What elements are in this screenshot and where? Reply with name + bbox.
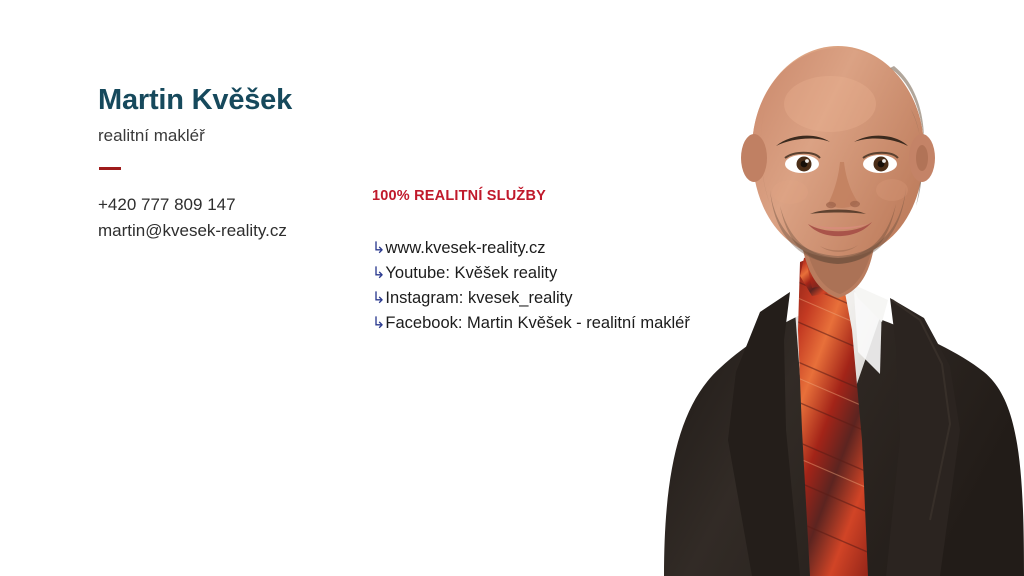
identity-block: Martin Kvěšek realitní makléř +420 777 8… bbox=[98, 84, 368, 245]
job-title: realitní makléř bbox=[98, 126, 368, 146]
list-item[interactable]: ↳ Instagram: kvesek_reality bbox=[372, 286, 752, 311]
divider-rule bbox=[99, 167, 121, 170]
page-title: Martin Kvěšek bbox=[98, 84, 368, 116]
list-item[interactable]: ↳ Youtube: Kvěšek reality bbox=[372, 261, 752, 286]
arrow-down-right-icon: ↳ bbox=[372, 241, 385, 257]
link-website[interactable]: www.kvesek-reality.cz bbox=[385, 236, 545, 261]
arrow-down-right-icon: ↳ bbox=[372, 266, 385, 282]
services-block: 100% REALITNÍ SLUŽBY ↳ www.kvesek-realit… bbox=[372, 188, 752, 336]
email-address[interactable]: martin@kvesek-reality.cz bbox=[98, 218, 368, 244]
services-heading: 100% REALITNÍ SLUŽBY bbox=[372, 188, 752, 204]
link-facebook[interactable]: Facebook: Martin Kvěšek - realitní maklé… bbox=[385, 311, 689, 336]
list-item[interactable]: ↳ www.kvesek-reality.cz bbox=[372, 236, 752, 261]
arrow-down-right-icon: ↳ bbox=[372, 291, 385, 307]
social-links-list: ↳ www.kvesek-reality.cz ↳ Youtube: Kvěše… bbox=[372, 236, 752, 336]
arrow-down-right-icon: ↳ bbox=[372, 316, 385, 332]
phone-number[interactable]: +420 777 809 147 bbox=[98, 192, 368, 218]
link-instagram[interactable]: Instagram: kvesek_reality bbox=[385, 286, 572, 311]
business-card-slide: Martin Kvěšek realitní makléř +420 777 8… bbox=[0, 0, 1024, 576]
link-youtube[interactable]: Youtube: Kvěšek reality bbox=[385, 261, 557, 286]
contact-block: +420 777 809 147 martin@kvesek-reality.c… bbox=[98, 192, 368, 245]
list-item[interactable]: ↳ Facebook: Martin Kvěšek - realitní mak… bbox=[372, 311, 752, 336]
